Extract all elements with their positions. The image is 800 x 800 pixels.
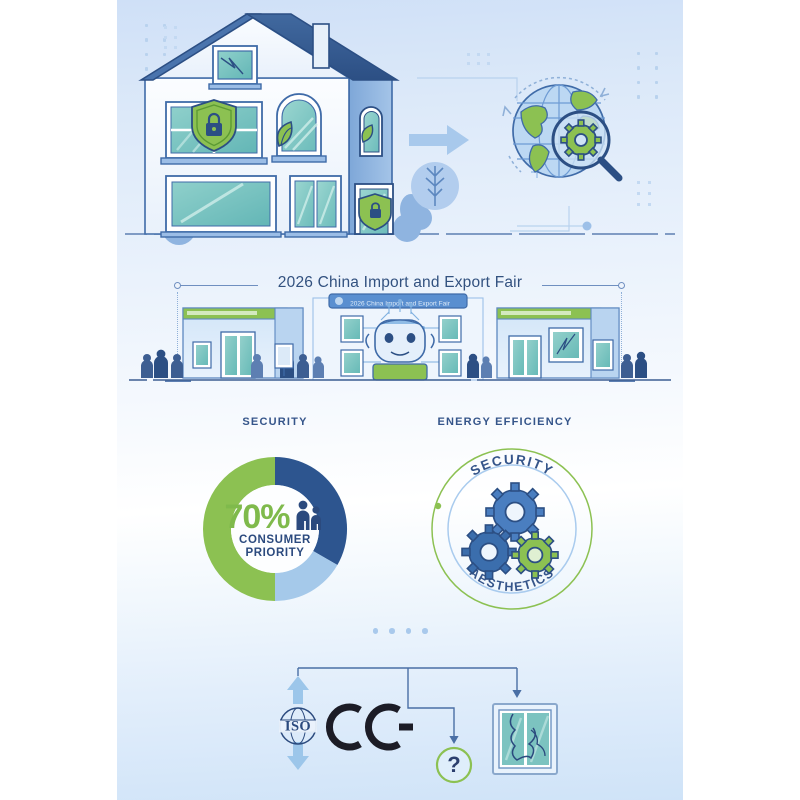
consumer-priority-donut-chart: 70% CONSUMER PRIORITY <box>180 434 370 624</box>
energy-efficiency-diagram: SECURITY AESTHETICS <box>417 434 607 624</box>
iso-label: ISO <box>285 718 311 734</box>
gear-icon <box>561 120 601 160</box>
door-shield-lock-badge <box>359 194 391 230</box>
poster-canvas: 2026 China Import and Export Fair <box>117 0 683 800</box>
gear-icon-secondary <box>462 525 516 579</box>
trade-fair-section: 2026 China Import and Export Fair <box>117 262 683 407</box>
smart-home-illustration <box>117 6 683 258</box>
center-booth: 2026 China Import and Export Fair <box>313 294 483 380</box>
compliance-section: ISO ? <box>117 648 683 788</box>
iso-mark: ISO <box>279 708 317 744</box>
ai-robot-mascot <box>366 320 434 380</box>
cracked-window-icon <box>493 704 557 774</box>
picture-window <box>161 176 281 237</box>
donut-svg <box>180 434 370 624</box>
question-label: ? <box>447 752 460 777</box>
casement-window <box>285 176 347 237</box>
ce-mark <box>329 707 413 747</box>
export-arrow-icon <box>409 125 469 155</box>
question-badge: ? <box>437 748 471 782</box>
tree-icon <box>411 162 459 210</box>
infographic-page: 2026 China Import and Export Fair <box>0 0 800 800</box>
side-window-upper <box>360 107 382 156</box>
energy-efficiency-label: ENERGY EFFICIENCY <box>385 416 625 428</box>
ring-marker <box>435 503 441 509</box>
exhibition-booth-illustration: 2026 China Import and Export Fair <box>117 262 683 407</box>
security-label: SECURITY <box>155 416 395 428</box>
right-booth <box>497 308 619 378</box>
section-divider-dots <box>117 628 683 634</box>
statistics-section: SECURITY ENERGY EFFICIENCY 70% <box>117 412 683 622</box>
attic-window <box>209 46 261 89</box>
gear-icon-accent <box>512 532 558 578</box>
